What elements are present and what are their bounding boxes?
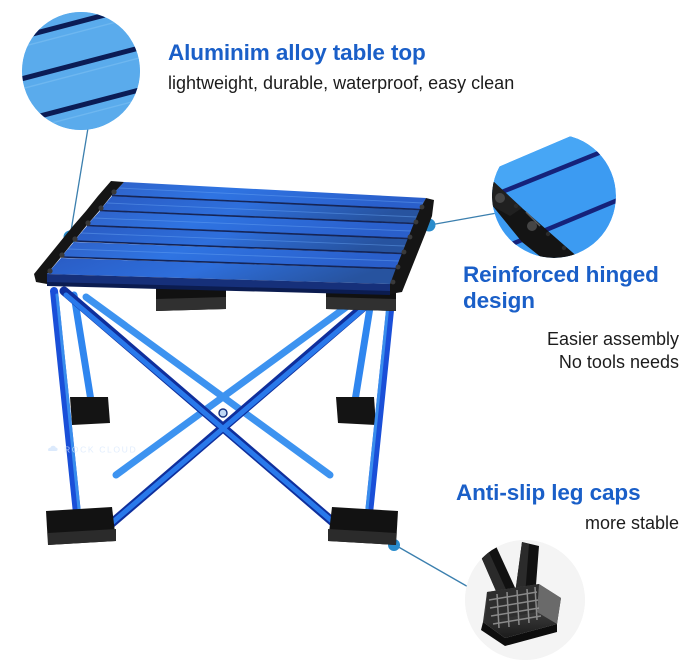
table-foot-rear-right [336,397,376,425]
callout-bubble-hinge [492,134,616,258]
table-leg-frame [30,285,420,560]
callout-subtext-table-top: lightweight, durable, waterproof, easy c… [168,72,514,95]
callout-bubble-table-top [22,12,140,130]
product-infographic: ROCK CLOUD [0,0,679,663]
brand-logo: ROCK CLOUD [46,442,166,454]
callout-bubble-leg-cap [465,540,585,660]
cloud-monogram-icon [48,446,58,451]
brand-logo-text: ROCK CLOUD [64,444,137,454]
callout-subtext-leg-caps: more stable [456,512,679,535]
table-foot-front-right [328,507,398,545]
callout-heading-leg-caps: Anti-slip leg caps [456,480,679,506]
table-foot-front-left [46,507,116,545]
table-foot-rear-left [70,397,110,425]
table-top-panel: ROCK CLOUD [16,178,436,296]
callout-heading-hinge: Reinforced hinged design [463,262,679,314]
callout-subtext-hinge: Easier assembly No tools needs [463,328,679,375]
callout-heading-table-top: Aluminim alloy table top [168,40,426,66]
leg-pivot-bolt [219,409,227,417]
